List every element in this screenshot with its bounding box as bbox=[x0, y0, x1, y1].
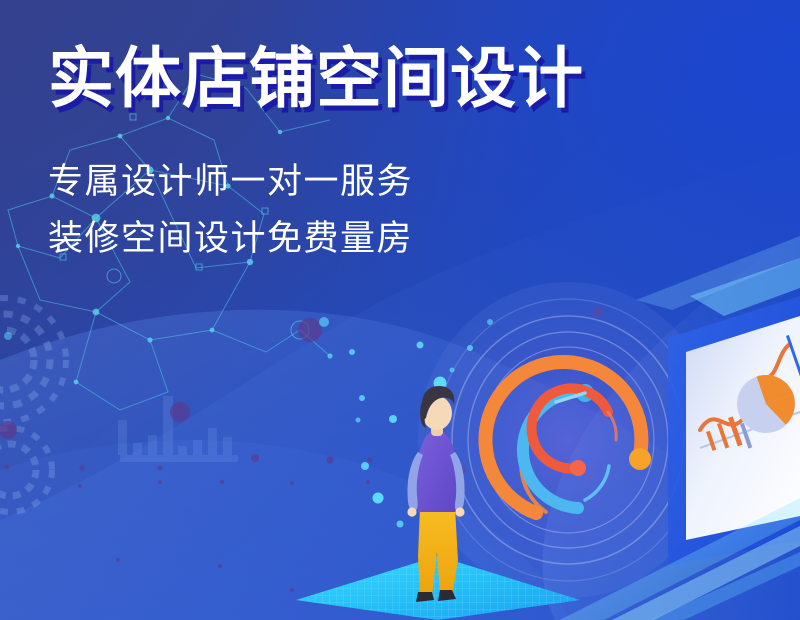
subtitle-group: 专属设计师一对一服务 装修空间设计免费量房 bbox=[48, 154, 584, 267]
subtitle-line-2: 装修空间设计免费量房 bbox=[48, 211, 584, 268]
person-sweater bbox=[417, 430, 459, 512]
headline: 实体店铺空间设计 bbox=[48, 44, 584, 114]
subtitle-line-1: 专属设计师一对一服务 bbox=[48, 154, 584, 211]
person-hand-right bbox=[455, 507, 464, 516]
person-hand-left bbox=[407, 507, 416, 516]
promo-banner: 实体店铺空间设计 专属设计师一对一服务 装修空间设计免费量房 bbox=[0, 0, 800, 620]
text-block: 实体店铺空间设计 专属设计师一对一服务 装修空间设计免费量房 bbox=[48, 44, 584, 267]
